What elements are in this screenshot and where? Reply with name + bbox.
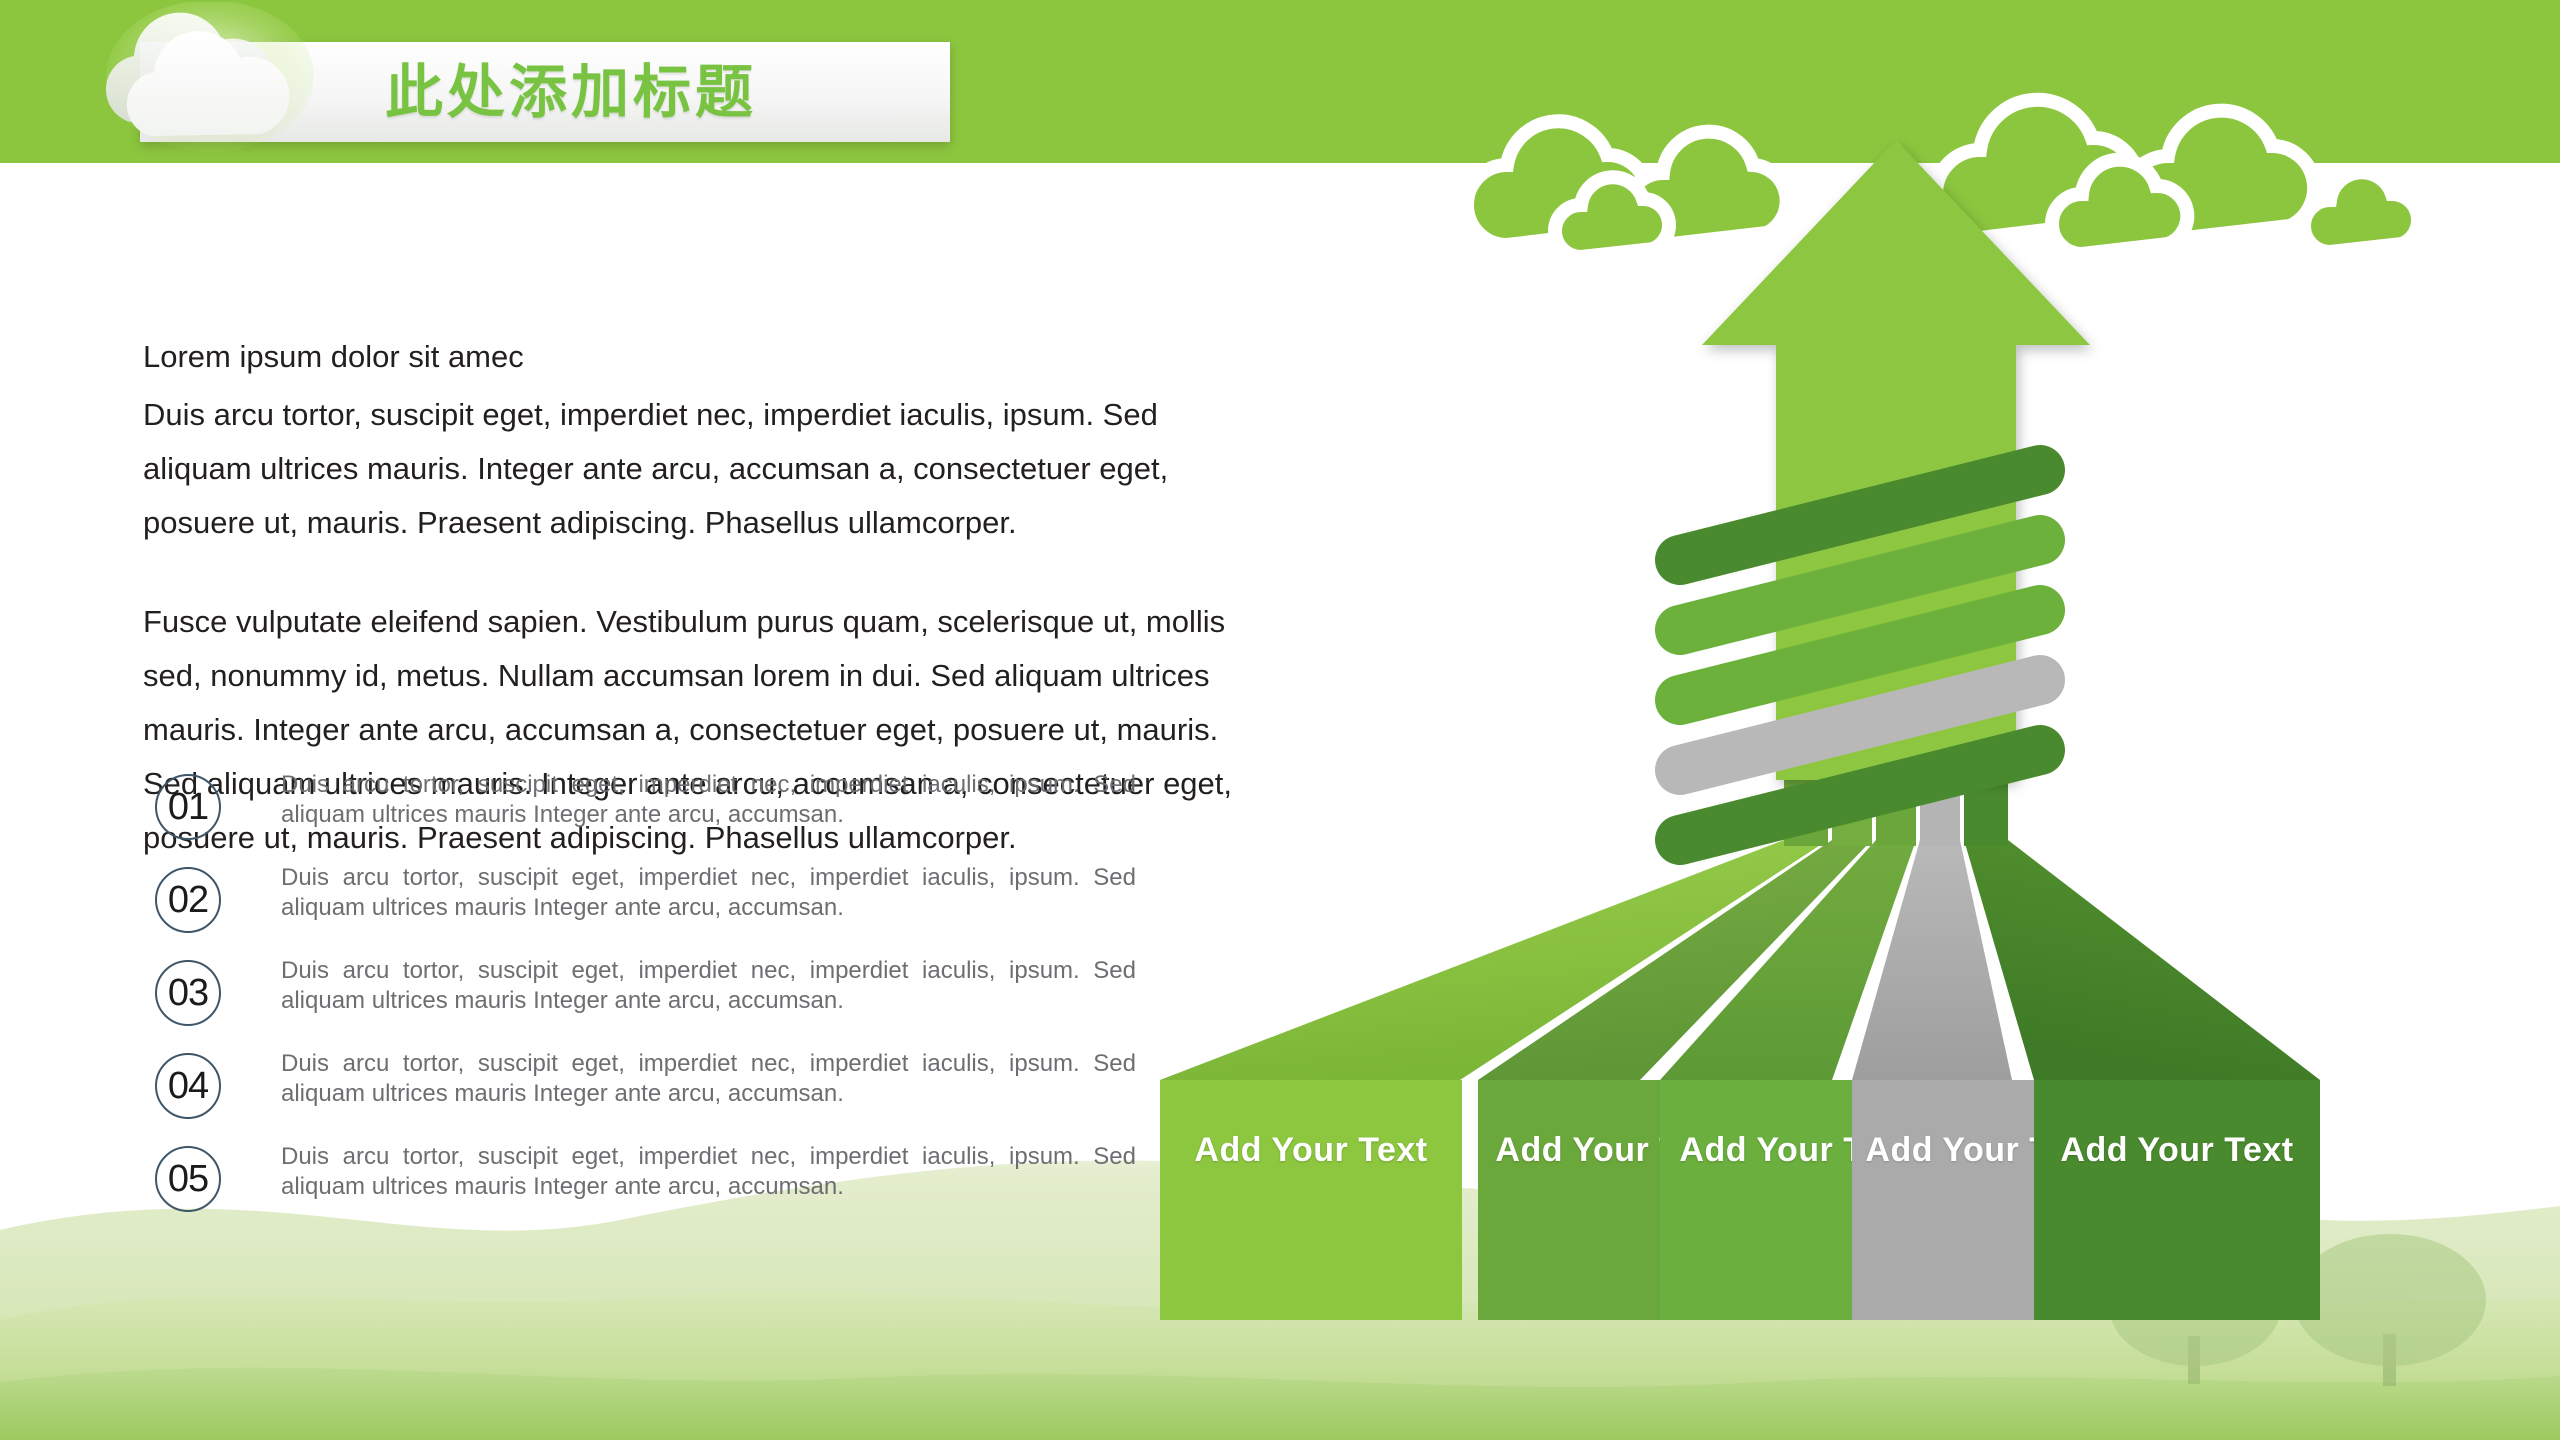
bar-5[interactable]: Add Your Text bbox=[2034, 1080, 2320, 1320]
list-item[interactable]: 03 Duis arcu tortor, suscipit eget, impe… bbox=[155, 956, 1155, 1049]
list-item[interactable]: 01 Duis arcu tortor, suscipit eget, impe… bbox=[155, 770, 1155, 863]
list-item-number: 05 bbox=[155, 1146, 221, 1212]
numbered-list: 01 Duis arcu tortor, suscipit eget, impe… bbox=[155, 770, 1155, 1235]
body-paragraph: Duis arcu tortor, suscipit eget, imperdi… bbox=[143, 388, 1253, 550]
lead-paragraph: Lorem ipsum dolor sit amec bbox=[143, 330, 1253, 384]
bar-1[interactable]: Add Your Text bbox=[1160, 1080, 1462, 1320]
cloud-icon bbox=[100, 2, 330, 157]
list-item-number: 02 bbox=[155, 867, 221, 933]
list-item-text: Duis arcu tortor, suscipit eget, imperdi… bbox=[281, 956, 1136, 1016]
ribbon-5 bbox=[1964, 840, 2320, 1080]
list-item[interactable]: 02 Duis arcu tortor, suscipit eget, impe… bbox=[155, 863, 1155, 956]
list-item-text: Duis arcu tortor, suscipit eget, imperdi… bbox=[281, 1142, 1136, 1202]
list-item[interactable]: 04 Duis arcu tortor, suscipit eget, impe… bbox=[155, 1049, 1155, 1142]
bar-label: Add Your Text bbox=[1160, 1128, 1462, 1172]
list-item-text: Duis arcu tortor, suscipit eget, imperdi… bbox=[281, 863, 1136, 923]
bar-label: Add Your Text bbox=[2034, 1128, 2320, 1172]
arrow-diagram: Add Your Text Add Your Text Add Your Tex… bbox=[1160, 140, 2560, 1320]
list-item-number: 03 bbox=[155, 960, 221, 1026]
list-item-number: 01 bbox=[155, 774, 221, 840]
list-item[interactable]: 05 Duis arcu tortor, suscipit eget, impe… bbox=[155, 1142, 1155, 1235]
list-item-text: Duis arcu tortor, suscipit eget, imperdi… bbox=[281, 1049, 1136, 1109]
page-title: 此处添加标题 bbox=[385, 50, 757, 136]
list-item-text: Duis arcu tortor, suscipit eget, imperdi… bbox=[281, 770, 1136, 830]
list-item-number: 04 bbox=[155, 1053, 221, 1119]
ribbon-group bbox=[1160, 840, 2320, 1080]
slide-canvas: 此处添加标题 Lorem ipsum dolor sit amec Duis a… bbox=[0, 0, 2560, 1440]
